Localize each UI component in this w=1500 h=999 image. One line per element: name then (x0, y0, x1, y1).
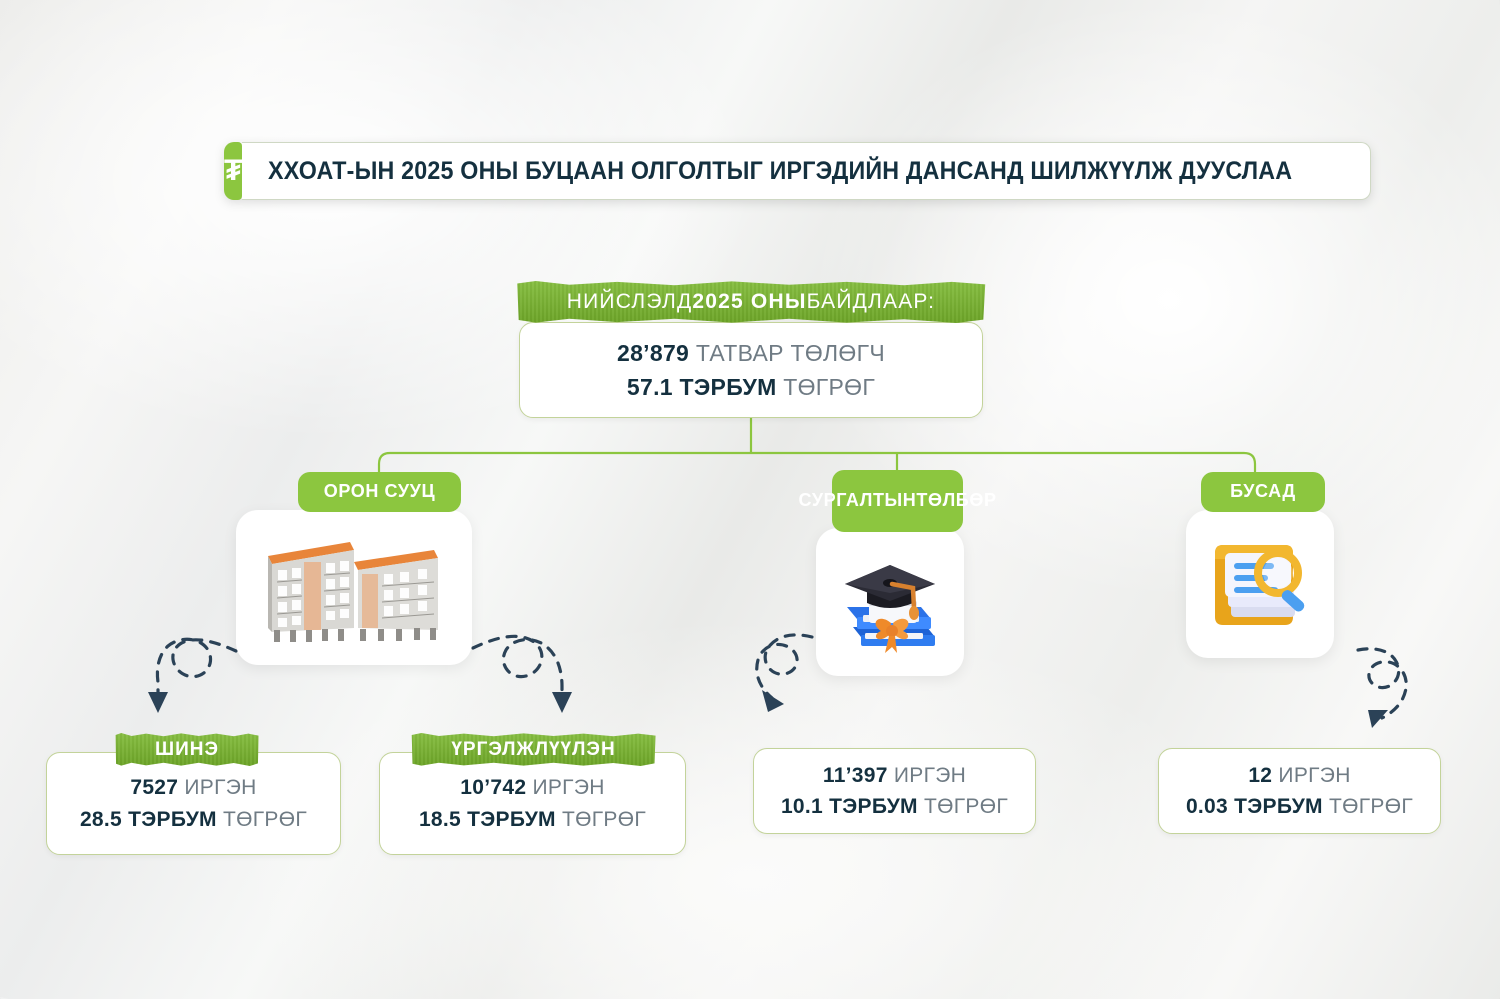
summary-panel: 28’879 ТАТВАР ТӨЛӨГЧ 57.1 ТЭРБУМ ТӨГРӨГ (519, 322, 983, 418)
result-tuition-amount-label: ТӨГРӨГ (918, 795, 1008, 818)
document-magnifier-icon (1201, 525, 1319, 643)
doodle-arrow-tuition (757, 635, 812, 712)
result-tuition-citizens-line: 11’397 ИРГЭН (823, 760, 966, 792)
infographic-stage: ₮ ХХОАТ-ЫН 2025 ОНЫ БУЦААН ОЛГОЛТЫГ ИРГЭ… (0, 0, 1500, 999)
title-plate: ХХОАТ-ЫН 2025 ОНЫ БУЦААН ОЛГОЛТЫГ ИРГЭДИ… (242, 142, 1370, 200)
category-chip-other[interactable]: БУСАД (1201, 472, 1325, 512)
result-other-citizens-label: ИРГЭН (1272, 764, 1350, 787)
result-continued-amount-label: ТӨГРӨГ (556, 808, 646, 831)
doodle-arrow-housing-new (148, 639, 236, 713)
result-other-amount-line: 0.03 ТЭРБУМ ТӨГРӨГ (1186, 791, 1413, 823)
icon-card-tuition (816, 528, 964, 676)
category-chip-tuition[interactable]: СУРГАЛТЫН ТӨЛБӨР (832, 470, 963, 532)
apartment-building-icon (254, 532, 454, 644)
result-continued-citizens-label: ИРГЭН (526, 776, 604, 799)
result-panel-tuition: 11’397 ИРГЭН 10.1 ТЭРБУМ ТӨГРӨГ (753, 748, 1036, 834)
category-chip-housing-label: ОРОН СУУЦ (324, 481, 435, 502)
title-bar: ₮ ХХОАТ-ЫН 2025 ОНЫ БУЦААН ОЛГОЛТЫГ ИРГЭ… (224, 142, 1280, 200)
summary-amount-label: ТӨГРӨГ (777, 374, 876, 400)
category-chip-other-label: БУСАД (1230, 481, 1296, 502)
result-tuition-citizens-label: ИРГЭН (888, 764, 966, 787)
result-new-citizens-label: ИРГЭН (178, 776, 256, 799)
result-tape-continued: ҮРГЭЛЖЛҮҮЛЭН (409, 733, 658, 766)
result-panel-other: 12 ИРГЭН 0.03 ТЭРБУМ ТӨГРӨГ (1158, 748, 1441, 834)
result-panel-new: 7527 ИРГЭН 28.5 ТЭРБУМ ТӨГРӨГ (46, 752, 341, 855)
result-tape-new-label: ШИНЭ (155, 739, 219, 761)
result-new-citizens-line: 7527 ИРГЭН (130, 772, 256, 804)
summary-tape-suffix: БАЙДЛААР: (807, 290, 936, 314)
result-panel-continued: 10’742 ИРГЭН 18.5 ТЭРБУМ ТӨГРӨГ (379, 752, 686, 855)
graduation-cap-books-icon (831, 543, 949, 661)
result-tuition-amount-line: 10.1 ТЭРБУМ ТӨГРӨГ (781, 791, 1008, 823)
result-other-citizens-line: 12 ИРГЭН (1248, 760, 1350, 792)
page-title: ХХОАТ-ЫН 2025 ОНЫ БУЦААН ОЛГОЛТЫГ ИРГЭДИ… (268, 157, 1292, 186)
result-new-amount-value: 28.5 ТЭРБУМ (80, 808, 217, 831)
result-new-amount-label: ТӨГРӨГ (217, 808, 307, 831)
summary-amount-value: 57.1 ТЭРБУМ (627, 374, 777, 400)
result-tape-new: ШИНЭ (114, 733, 260, 766)
category-chip-tuition-label-1: СУРГАЛТЫН (798, 490, 916, 511)
result-other-amount-value: 0.03 ТЭРБУМ (1186, 795, 1323, 818)
tugrik-glyph: ₮ (224, 156, 242, 186)
result-other-citizens-value: 12 (1248, 764, 1272, 787)
result-continued-amount-value: 18.5 ТЭРБУМ (419, 808, 556, 831)
summary-taxpayers-value: 28’879 (617, 340, 689, 366)
icon-card-housing (236, 510, 472, 665)
summary-taxpayers-label: ТАТВАР ТӨЛӨГЧ (689, 340, 885, 366)
icon-card-other (1186, 510, 1334, 658)
summary-amount-line: 57.1 ТЭРБУМ ТӨГРӨГ (627, 370, 875, 405)
summary-taxpayers-line: 28’879 ТАТВАР ТӨЛӨГЧ (617, 336, 885, 371)
result-tape-continued-label: ҮРГЭЛЖЛҮҮЛЭН (451, 739, 615, 761)
summary-tape-bold: 2025 ОНЫ (692, 290, 806, 314)
result-new-amount-line: 28.5 ТЭРБУМ ТӨГРӨГ (80, 804, 307, 836)
result-new-citizens-value: 7527 (130, 776, 178, 799)
doodle-arrow-housing-continued (473, 636, 572, 713)
category-chip-housing[interactable]: ОРОН СУУЦ (298, 472, 461, 512)
summary-tape-label: НИЙСЛЭЛД 2025 ОНЫ БАЙДЛААР: (512, 281, 990, 323)
result-tuition-amount-value: 10.1 ТЭРБУМ (781, 795, 918, 818)
result-continued-amount-line: 18.5 ТЭРБУМ ТӨГРӨГ (419, 804, 646, 836)
result-continued-citizens-line: 10’742 ИРГЭН (460, 772, 604, 804)
result-tuition-citizens-value: 11’397 (823, 764, 888, 787)
category-chip-tuition-label-2: ТӨЛБӨР (916, 490, 996, 511)
summary-tape-prefix: НИЙСЛЭЛД (567, 290, 693, 314)
tugrik-icon: ₮ (224, 142, 242, 200)
result-other-amount-label: ТӨГРӨГ (1323, 795, 1413, 818)
result-continued-citizens-value: 10’742 (460, 776, 526, 799)
doodle-arrow-other (1358, 649, 1406, 728)
